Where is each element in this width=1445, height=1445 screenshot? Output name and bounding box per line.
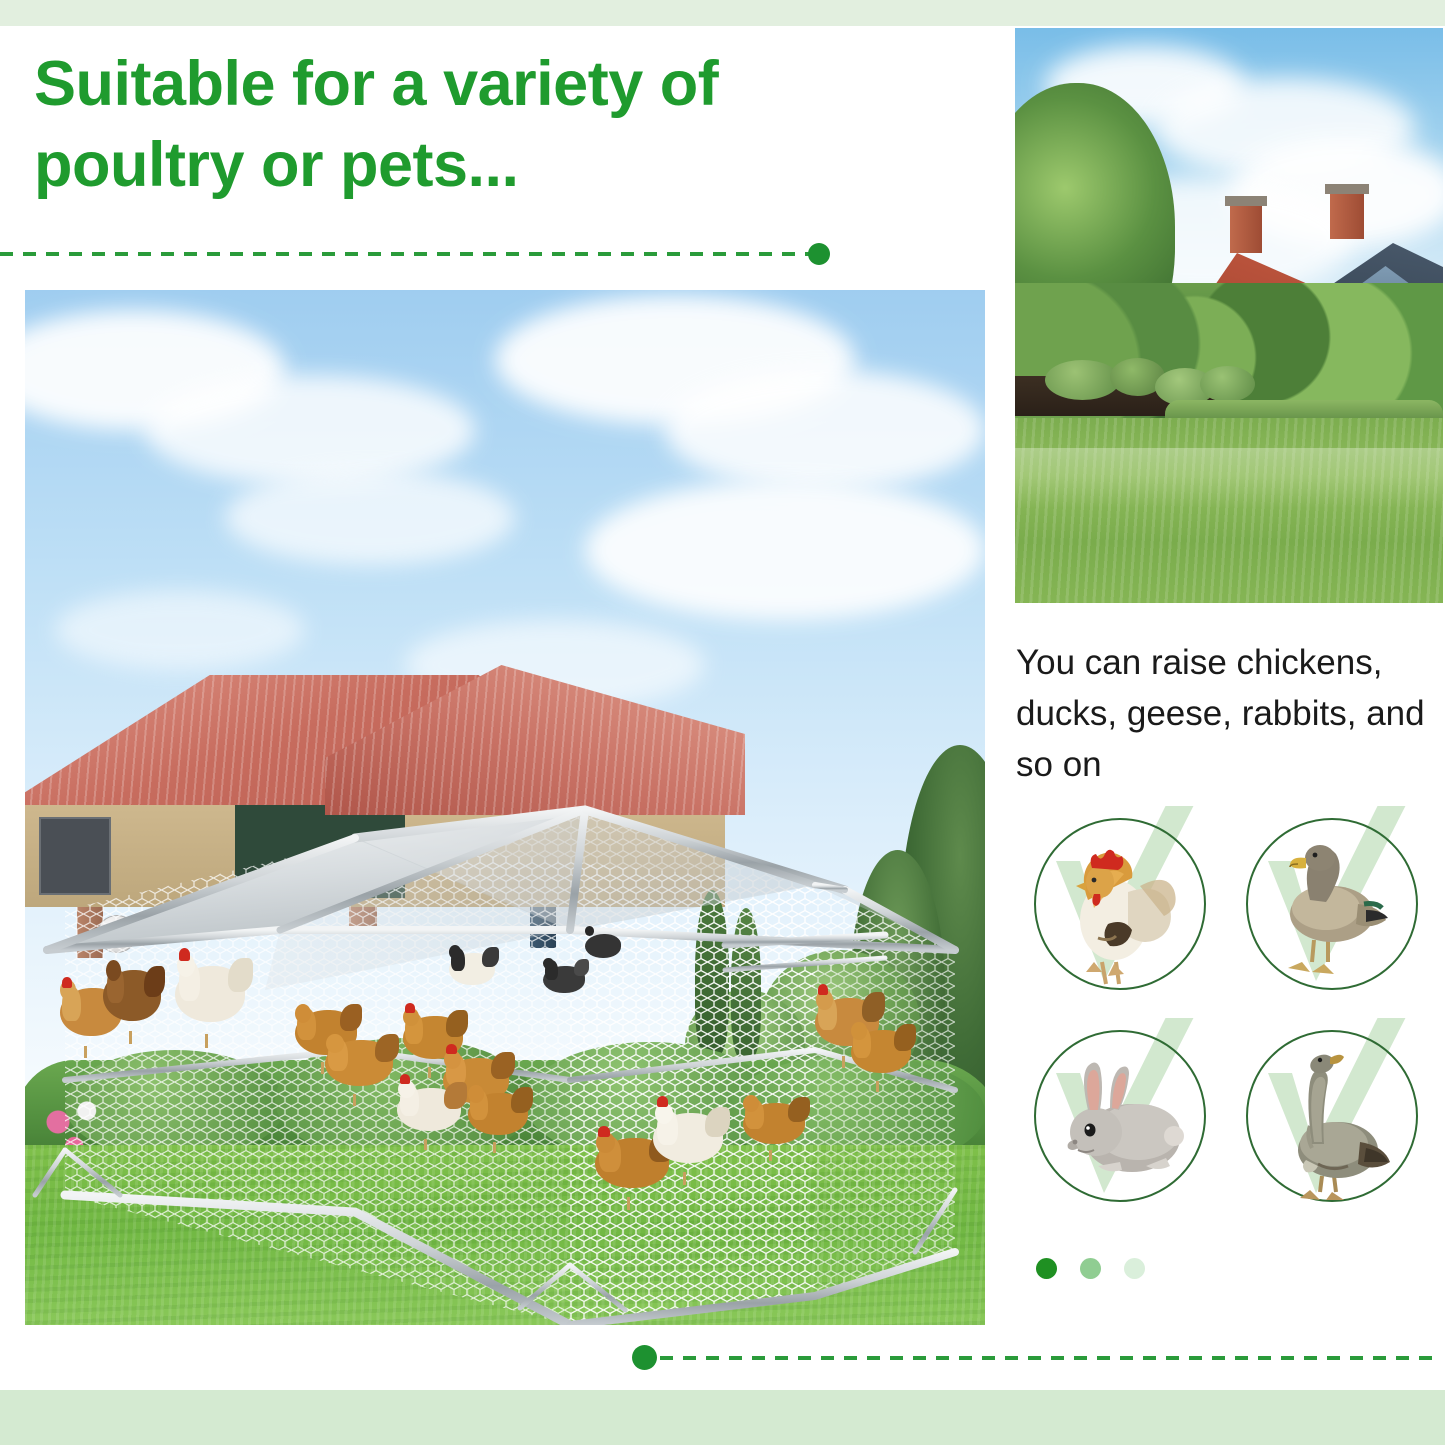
chicken <box>397 1080 461 1150</box>
shrub <box>1200 366 1255 402</box>
chicken <box>325 1032 393 1106</box>
lawn <box>1015 418 1443 603</box>
animal-card-rabbit[interactable] <box>1028 1024 1213 1209</box>
animal-card-duck[interactable] <box>1240 812 1425 997</box>
chicken <box>468 1085 528 1153</box>
rabbit-icon <box>1028 1024 1213 1209</box>
dashed-line <box>660 1356 1436 1360</box>
feature-caption: You can raise chickens, ducks, geese, ra… <box>1016 638 1436 790</box>
chicken <box>743 1095 805 1161</box>
top-accent-band <box>0 0 1445 26</box>
pagination-dot[interactable] <box>1124 1258 1145 1279</box>
chimney-cap <box>1225 196 1267 206</box>
chicken <box>851 1022 911 1092</box>
pagination-dot[interactable] <box>1080 1258 1101 1279</box>
footer-divider <box>636 1356 1436 1360</box>
chicken <box>585 926 621 964</box>
duck-icon <box>1240 812 1425 997</box>
supported-animals-grid <box>1028 812 1438 1227</box>
divider-dot-icon <box>632 1345 657 1370</box>
goose-icon <box>1240 1024 1425 1209</box>
chicken <box>175 958 245 1048</box>
chicken <box>653 1105 723 1185</box>
animal-card-chicken[interactable] <box>1028 812 1213 997</box>
chicken-coop-structure <box>25 290 985 1325</box>
chicken <box>543 958 585 1002</box>
divider-dot-icon <box>808 243 830 265</box>
chicken <box>449 945 495 997</box>
rooster-icon <box>1028 812 1213 997</box>
dashed-line <box>0 252 820 256</box>
chimney-cap <box>1325 184 1369 194</box>
animal-card-goose[interactable] <box>1240 1024 1425 1209</box>
lawn-photo <box>1015 28 1443 603</box>
headline-divider <box>0 252 820 256</box>
headline-line-2: poultry or pets... <box>34 125 964 206</box>
bottom-accent-band <box>0 1390 1445 1445</box>
headline-line-1: Suitable for a variety of <box>34 44 964 125</box>
product-feature-card: Suitable for a variety of poultry or pet… <box>0 0 1445 1445</box>
lawn-stripe <box>1015 448 1443 508</box>
chicken <box>103 962 161 1044</box>
shrub <box>1045 360 1120 400</box>
hero-product-photo <box>25 290 985 1325</box>
pagination-dot-active[interactable] <box>1036 1258 1057 1279</box>
page-title: Suitable for a variety of poultry or pet… <box>34 44 964 205</box>
carousel-pagination[interactable] <box>1036 1258 1166 1280</box>
